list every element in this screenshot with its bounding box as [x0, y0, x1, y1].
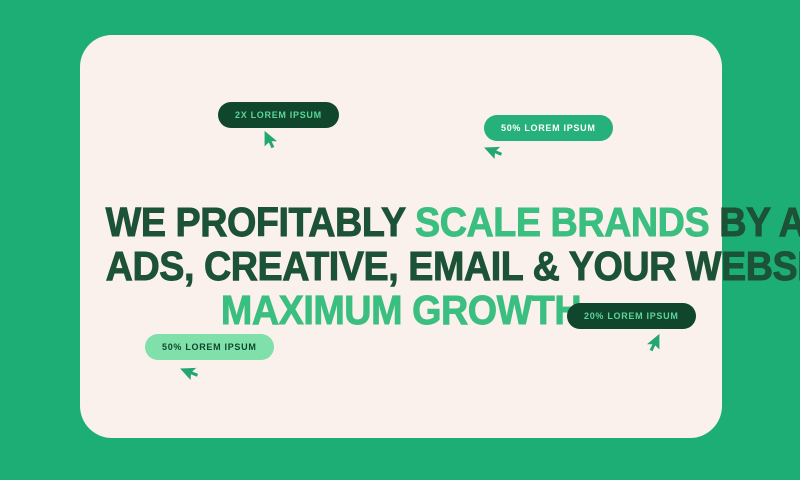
badge-50-lorem-ipsum-top[interactable]: 50% LOREM IPSUM: [484, 115, 613, 141]
badge-label: 20% LOREM IPSUM: [584, 311, 679, 321]
badge-label: 2X LOREM IPSUM: [235, 110, 322, 120]
headline-line-2: ADS, CREATIVE, EMAIL & YOUR WEBSITE FOR: [106, 244, 697, 288]
cursor-arrow-icon: [642, 332, 664, 354]
badge-label: 50% LOREM IPSUM: [501, 123, 596, 133]
headline-line-1-pre: WE PROFITABLY: [106, 199, 415, 245]
cursor-arrow-icon: [260, 129, 282, 151]
headline-line-1: WE PROFITABLY SCALE BRANDS BY ALIGNING: [106, 200, 697, 244]
badge-50-lorem-ipsum-bottom[interactable]: 50% LOREM IPSUM: [145, 334, 274, 360]
cursor-arrow-icon: [175, 355, 206, 386]
badge-20-lorem-ipsum[interactable]: 20% LOREM IPSUM: [567, 303, 696, 329]
headline-line-1-post: BY ALIGNING: [709, 199, 800, 245]
hero-banner: WE PROFITABLY SCALE BRANDS BY ALIGNING A…: [0, 0, 800, 480]
hero-card: WE PROFITABLY SCALE BRANDS BY ALIGNING A…: [80, 35, 722, 438]
badge-2x-lorem-ipsum[interactable]: 2X LOREM IPSUM: [218, 102, 339, 128]
headline-highlight-scale-brands: SCALE BRANDS: [415, 199, 709, 245]
badge-label: 50% LOREM IPSUM: [162, 342, 257, 352]
